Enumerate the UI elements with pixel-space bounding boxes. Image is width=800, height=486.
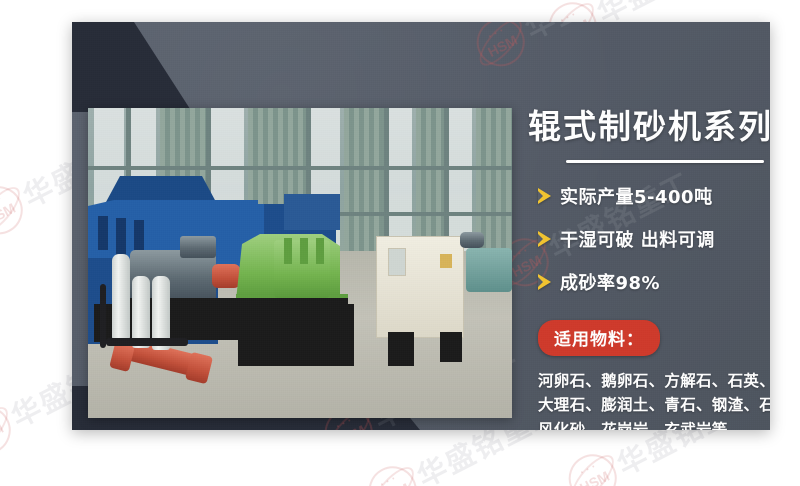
product-photo [88,108,512,418]
machine-hopper [106,176,216,202]
product-banner-card: • • • HSM 华盛铭重工 • • • HSM 华盛铭重工 • • • HS… [72,22,770,430]
list-item: 成砂率98% [538,269,770,295]
watermark-text: 华盛铭重工 [517,22,674,48]
copy-column: 辊式制砂机系列 实际产量5-400吨 干湿可破 出料可调 成砂率98% 适用物料… [528,108,770,430]
materials-badge: 适用物料： [538,320,660,356]
page-title: 辊式制砂机系列 [528,108,770,146]
right-motor [466,248,512,292]
decorative-wedge-top-left [72,22,262,112]
feature-label: 干湿可破 出料可调 [560,226,715,252]
feature-label: 实际产量5-400吨 [560,183,713,209]
feature-list: 实际产量5-400吨 干湿可破 出料可调 成砂率98% [528,183,770,295]
arrow-right-icon [538,231,551,247]
arrow-right-icon [538,274,551,290]
title-underline [566,160,764,163]
list-item: 实际产量5-400吨 [538,183,770,209]
hsm-logo-text: HSM [485,32,519,59]
list-item: 干湿可破 出料可调 [538,226,770,252]
hsm-logo-icon: • • • HSM [468,22,533,75]
watermark: • • • HSM 华盛铭重工 [468,22,675,75]
materials-text: 河卵石、鹅卵石、方解石、石英、玻璃、大理石、膨润土、青石、钢渣、石灰石、风化砂、… [538,369,770,430]
arrow-right-icon [538,188,551,204]
feature-label: 成砂率98% [560,269,660,295]
cylinder [112,254,130,340]
